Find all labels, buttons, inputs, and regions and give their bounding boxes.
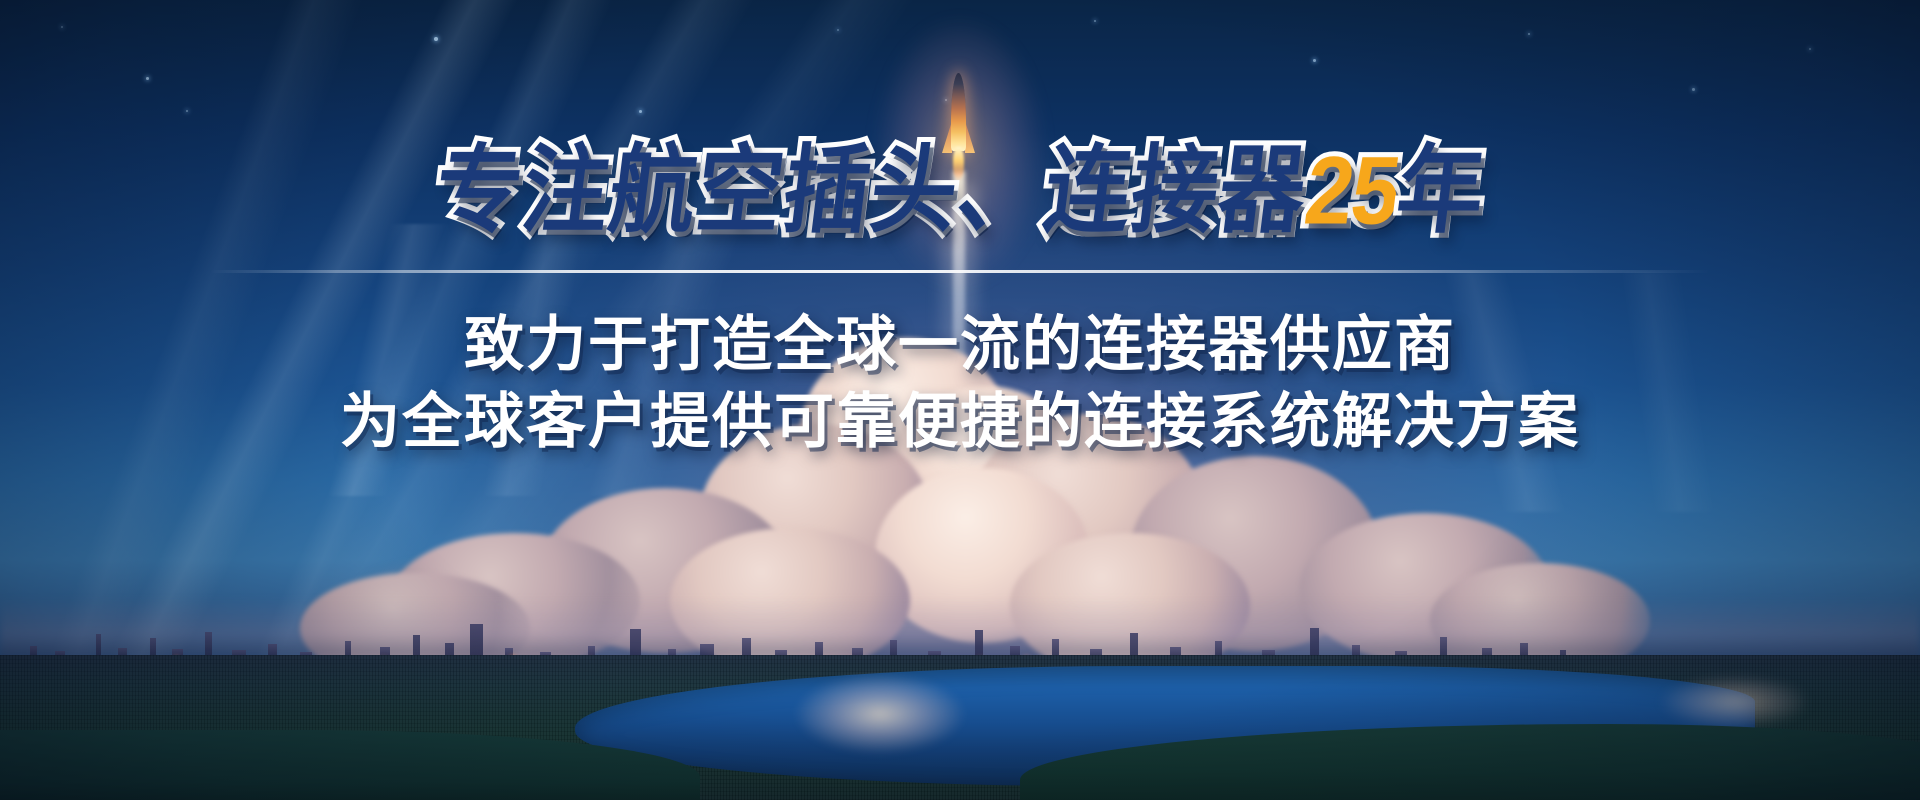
banner-content: 专注航空插头、连接器25年 致力于打造全球一流的连接器供应商 为全球客户提供可靠… xyxy=(0,0,1920,800)
subtitle-line-1: 致力于打造全球一流的连接器供应商 xyxy=(340,307,1580,384)
hero-banner: 专注航空插头、连接器25年 致力于打造全球一流的连接器供应商 为全球客户提供可靠… xyxy=(0,0,1920,800)
subtitle: 致力于打造全球一流的连接器供应商 为全球客户提供可靠便捷的连接系统解决方案 xyxy=(340,307,1580,461)
headline: 专注航空插头、连接器25年 xyxy=(430,143,1490,239)
headline-segment-unit: 年 xyxy=(1391,143,1490,239)
headline-segment-years: 25 xyxy=(1300,143,1403,239)
subtitle-line-2: 为全球客户提供可靠便捷的连接系统解决方案 xyxy=(340,384,1580,461)
headline-segment-main: 专注航空插头、连接器 xyxy=(430,143,1312,239)
divider xyxy=(210,270,1710,273)
